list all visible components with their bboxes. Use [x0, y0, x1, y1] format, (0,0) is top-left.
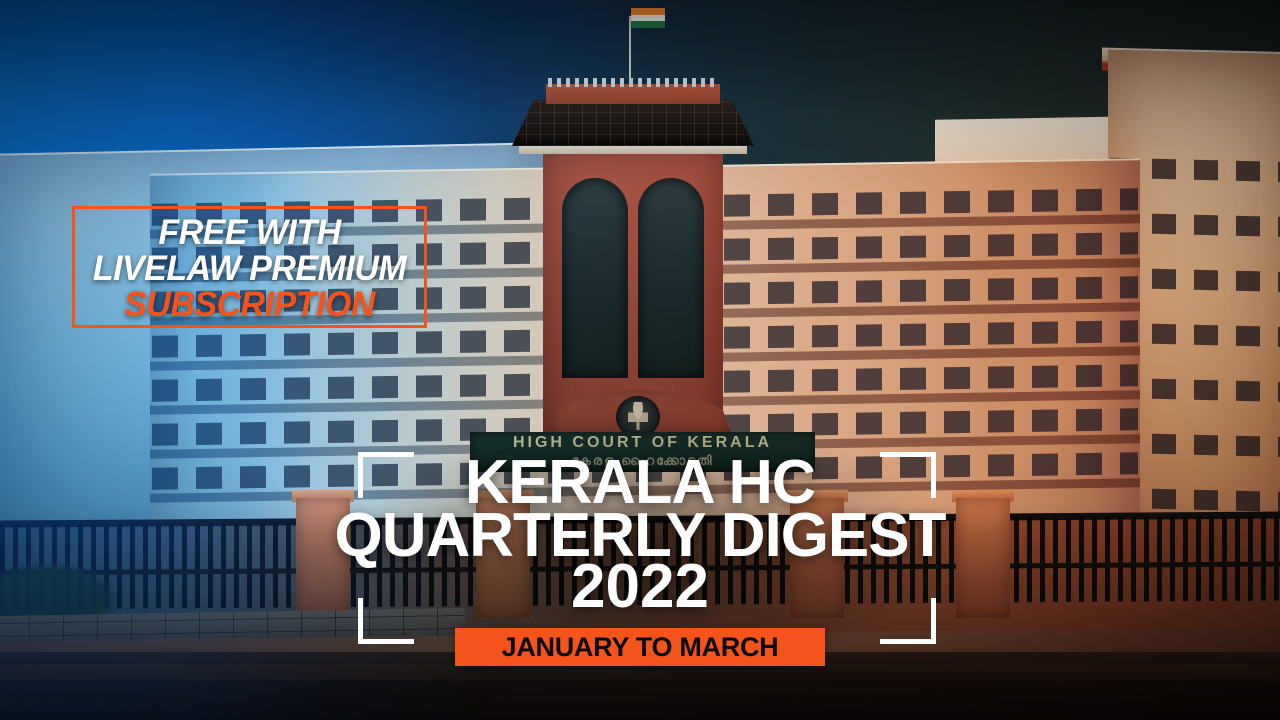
poster-canvas: HIGH COURT OF KERALA കേരള ഹൈക്കോടതി FREE… — [0, 0, 1280, 720]
period-label: JANUARY TO MARCH — [455, 634, 825, 661]
promo-line-3: SUBSCRIPTION — [77, 287, 421, 322]
bracket-arm-horizontal — [358, 639, 414, 644]
title-year: 2022 — [0, 556, 1280, 618]
promo-line-2: LIVELAW PREMIUM — [77, 251, 421, 286]
promo-line-1: FREE WITH — [77, 215, 421, 250]
bracket-arm-horizontal — [880, 639, 936, 644]
